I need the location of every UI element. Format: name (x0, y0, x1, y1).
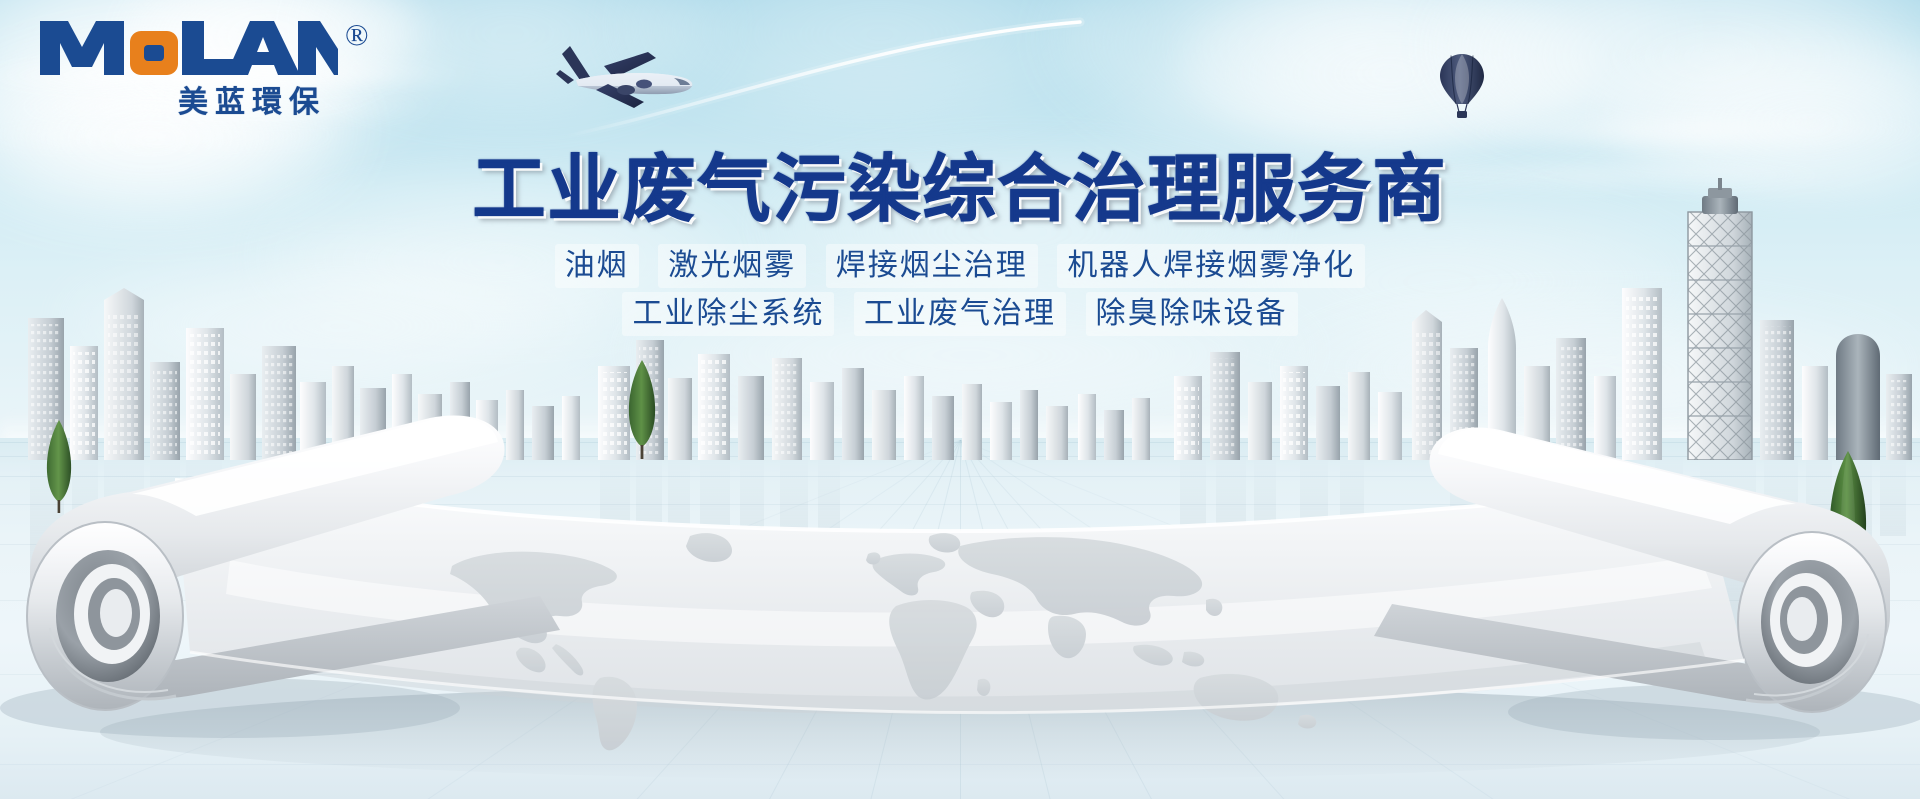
brand-logo[interactable]: ® 美蓝環保 (38, 17, 368, 122)
page-title: 工业废气污染综合治理服务商 (0, 152, 1920, 228)
service-tag: 油烟 (555, 244, 639, 288)
service-tag: 工业废气治理 (854, 292, 1066, 336)
hero-banner: ® 美蓝環保 工业废气污染综合治理服务商 油烟 激光烟雾 焊接烟尘治理 机器人焊… (0, 0, 1920, 799)
registered-trademark-icon: ® (345, 19, 369, 50)
hot-air-balloon-icon (1437, 52, 1487, 124)
service-tag: 激光烟雾 (658, 244, 806, 288)
service-tag-row-1: 油烟 激光烟雾 焊接烟尘治理 机器人焊接烟雾净化 (0, 244, 1920, 288)
service-tag: 除臭除味设备 (1086, 292, 1298, 336)
brand-chinese-name: 美蓝環保 (178, 77, 326, 121)
service-tag: 工业除尘系统 (622, 292, 834, 336)
service-tag: 焊接烟尘治理 (826, 244, 1038, 288)
service-tag-row-2: 工业除尘系统 工业废气治理 除臭除味设备 (0, 292, 1920, 336)
airplane-icon (552, 36, 712, 128)
service-tag: 机器人焊接烟雾净化 (1057, 244, 1365, 288)
service-tag-list: 油烟 激光烟雾 焊接烟尘治理 机器人焊接烟雾净化 工业除尘系统 工业废气治理 除… (0, 244, 1920, 340)
wordmark-moland (38, 17, 338, 79)
paper-scroll-icon (0, 360, 1920, 799)
